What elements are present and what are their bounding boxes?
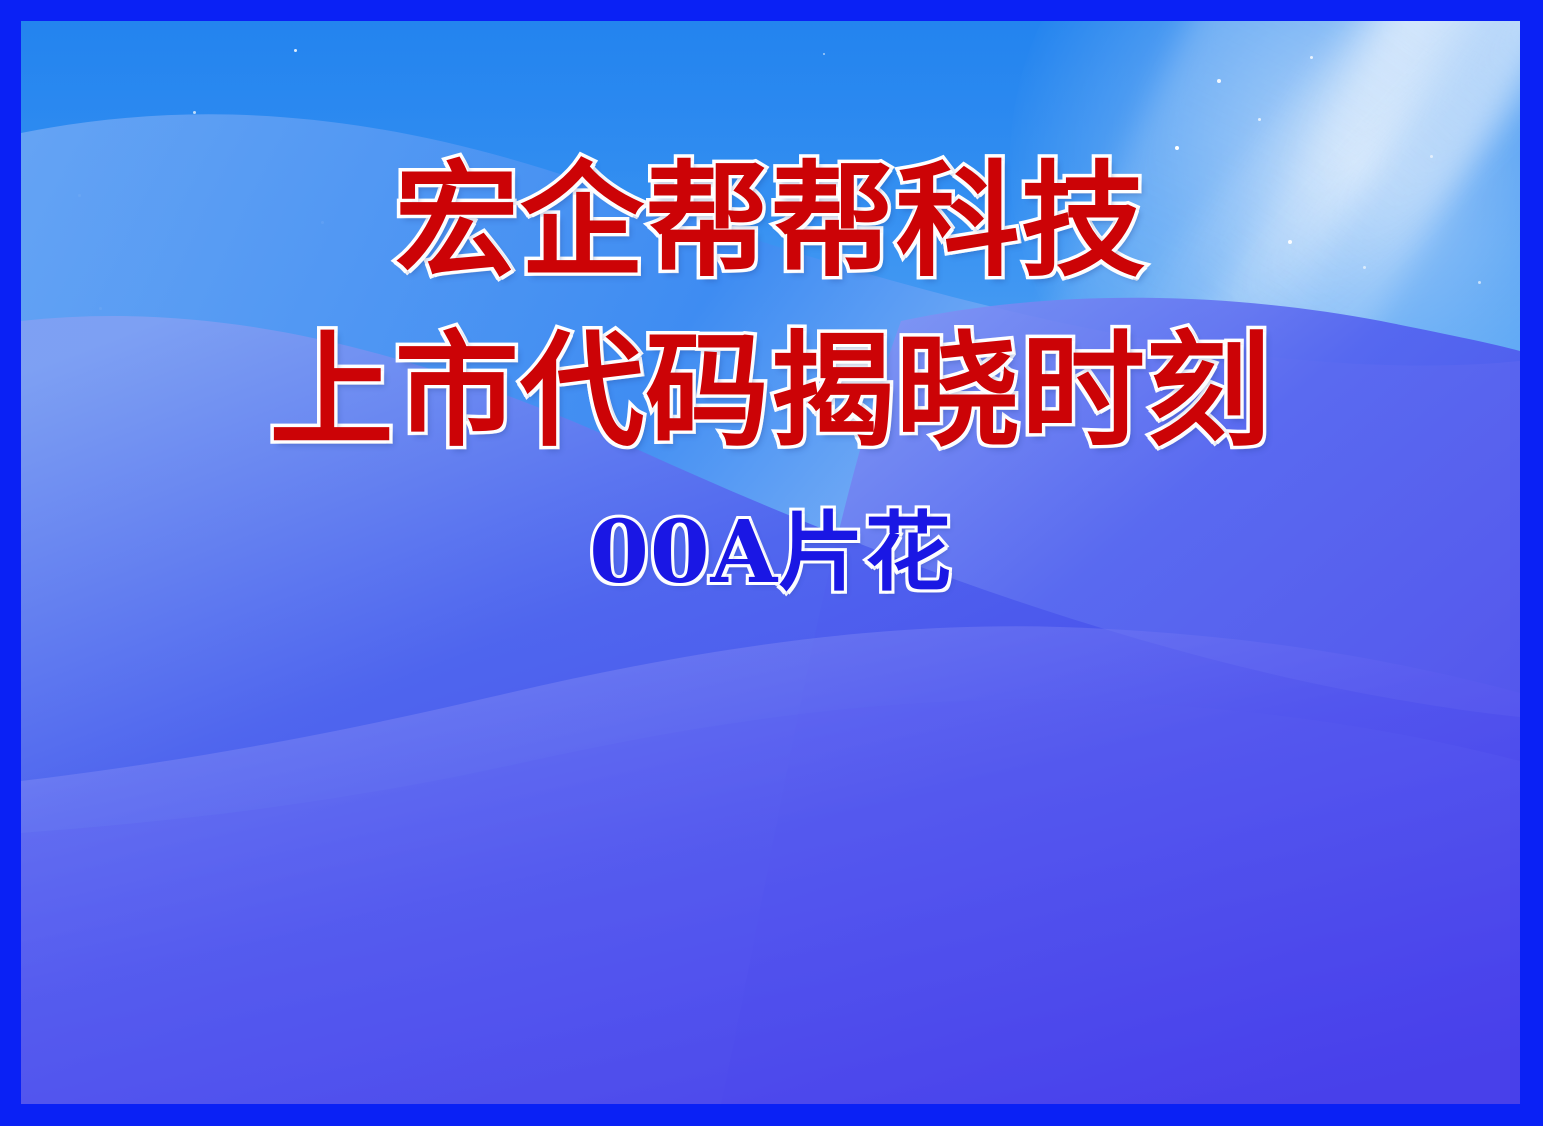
sparkle-star-icon: [178, 465, 181, 468]
light-ray-icon: [1214, 21, 1520, 365]
sparkle-star-icon: [636, 671, 640, 675]
sparkle-star-icon: [1363, 266, 1366, 269]
sparkle-star-icon: [1175, 146, 1179, 150]
headline-line-2: 上市代码揭晓时刻: [21, 319, 1520, 465]
sparkle-star-icon: [321, 221, 324, 224]
sparkle-star-icon: [84, 720, 87, 723]
sparkle-star-icon: [1265, 378, 1268, 381]
sparkle-star-icon: [471, 543, 474, 546]
light-ray-icon: [879, 21, 1480, 760]
sparkle-star-icon: [313, 768, 316, 771]
sparkle-star-icon: [1478, 281, 1481, 284]
sparkle-star-icon: [1258, 118, 1261, 121]
sparkle-star-icon: [231, 346, 234, 349]
sparkle-star-icon: [1130, 405, 1133, 408]
headline-subtitle: 00A片花: [21, 502, 1520, 603]
sky-gradient-overlay: [21, 21, 1520, 519]
sparkle-star-icon: [78, 194, 81, 197]
sparkle-star-icon: [1430, 155, 1433, 158]
sparkle-star-icon: [1288, 240, 1292, 244]
sparkle-star-icon: [1310, 56, 1313, 59]
slide-frame: 宏企帮帮科技 上市代码揭晓时刻 00A片花: [0, 0, 1543, 1126]
sparkle-star-icon: [294, 49, 297, 52]
headline-block: 宏企帮帮科技 上市代码揭晓时刻 00A片花: [21, 149, 1520, 603]
sparkle-star-icon: [63, 519, 66, 522]
headline-line-1: 宏企帮帮科技: [21, 149, 1520, 295]
sun-glow: [756, 627, 1521, 1104]
slide-background-scene: 宏企帮帮科技 上市代码揭晓时刻 00A片花: [21, 21, 1520, 1104]
sparkle-star-icon: [1400, 801, 1404, 805]
light-ray-icon: [1061, 21, 1520, 472]
sparkle-star-icon: [133, 627, 136, 630]
light-ray-icon: [1050, 21, 1520, 650]
sparkle-star-icon: [845, 568, 848, 571]
sparkle-star-icon: [1457, 763, 1464, 770]
corner-haze-glow: [1010, 21, 1520, 498]
sparkle-star-icon: [99, 307, 102, 310]
sparkle-star-icon: [1217, 79, 1221, 83]
sparkle-star-icon: [576, 839, 582, 845]
rolling-hills-graphic: [21, 21, 1520, 1104]
sparkle-star-icon: [823, 53, 825, 55]
sparkle-star-icon: [193, 111, 196, 114]
